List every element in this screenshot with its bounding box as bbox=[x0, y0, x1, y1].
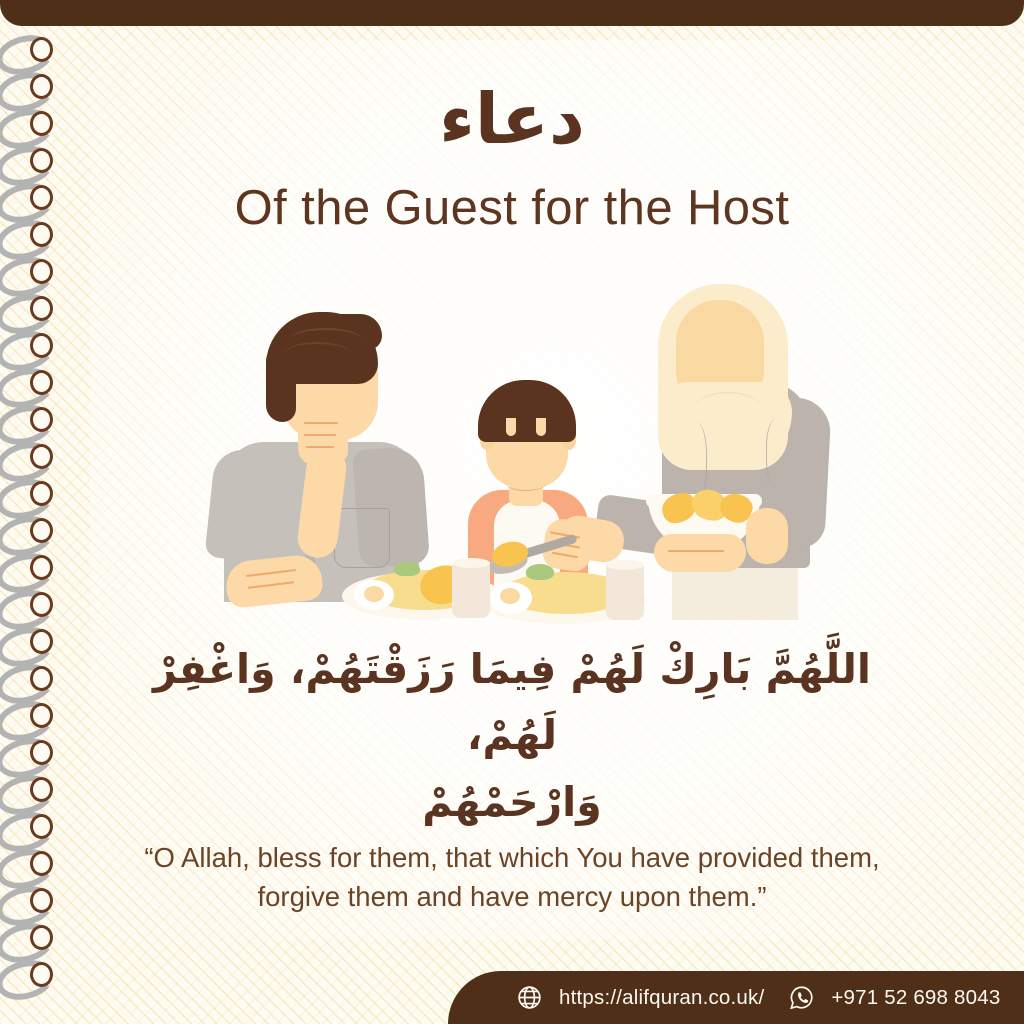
spiral-ring-hole bbox=[30, 814, 53, 839]
plate-right-garnish bbox=[526, 564, 554, 580]
spiral-ring-hole bbox=[30, 851, 53, 876]
website-url: https://alifquran.co.uk/ bbox=[559, 986, 764, 1010]
dua-arabic-line-1: اللَّهُمَّ بَارِكْ لَهُمْ فِيمَا رَزَقْت… bbox=[120, 636, 904, 769]
page-subtitle: Of the Guest for the Host bbox=[0, 180, 1024, 236]
spiral-ring-hole bbox=[30, 888, 53, 913]
spiral-ring bbox=[0, 922, 54, 952]
spiral-ring bbox=[0, 515, 54, 545]
poster-canvas: دعاء Of the Guest for the Host bbox=[0, 0, 1024, 1024]
spiral-ring-hole bbox=[30, 37, 53, 62]
dua-arabic-text: اللَّهُمَّ بَارِكْ لَهُمْ فِيمَا رَزَقْت… bbox=[120, 636, 904, 835]
globe-icon bbox=[516, 984, 543, 1011]
boy-hair-bang-notch bbox=[506, 418, 516, 436]
dua-arabic-line-2: وَارْحَمْهُمْ bbox=[120, 769, 904, 835]
spiral-ring bbox=[0, 552, 54, 582]
spiral-ring-hole bbox=[30, 740, 53, 765]
spiral-ring-hole bbox=[30, 296, 53, 321]
boy-chin-line bbox=[506, 476, 546, 491]
spiral-ring-hole bbox=[30, 407, 53, 432]
spiral-ring-hole bbox=[30, 925, 53, 950]
spiral-ring bbox=[0, 478, 54, 508]
boy-hair-bang-notch-2 bbox=[536, 418, 546, 436]
glass-left-top bbox=[452, 558, 490, 568]
dua-translation: “O Allah, bless for them, that which You… bbox=[110, 838, 914, 916]
woman-hand-under-bowl bbox=[654, 534, 746, 572]
spiral-ring bbox=[0, 774, 54, 804]
spiral-ring bbox=[0, 885, 54, 915]
contact-footer-bar: https://alifquran.co.uk/ +971 52 698 804… bbox=[448, 971, 1024, 1024]
plate-left-garnish bbox=[394, 562, 420, 576]
spiral-ring-hole bbox=[30, 259, 53, 284]
woman-hijab-fold-2 bbox=[692, 392, 764, 433]
top-brown-bar bbox=[0, 0, 1024, 26]
spiral-ring-hole bbox=[30, 481, 53, 506]
spiral-ring bbox=[0, 404, 54, 434]
spiral-ring bbox=[0, 811, 54, 841]
glass-right bbox=[606, 562, 644, 620]
spiral-ring-hole bbox=[30, 666, 53, 691]
spiral-ring-hole bbox=[30, 555, 53, 580]
spiral-ring-hole bbox=[30, 777, 53, 802]
spiral-ring-hole bbox=[30, 370, 53, 395]
spiral-ring bbox=[0, 256, 54, 286]
spiral-ring-hole bbox=[30, 703, 53, 728]
phone-number: +971 52 698 8043 bbox=[831, 986, 1000, 1010]
spiral-ring-hole bbox=[30, 444, 53, 469]
spiral-ring bbox=[0, 737, 54, 767]
phone-contact[interactable]: +971 52 698 8043 bbox=[788, 984, 1000, 1011]
spiral-ring bbox=[0, 626, 54, 656]
spiral-ring bbox=[0, 589, 54, 619]
man-finger-line-1 bbox=[304, 422, 338, 424]
man-shoulder-left bbox=[204, 447, 277, 563]
spiral-ring bbox=[0, 34, 54, 64]
spiral-ring bbox=[0, 959, 54, 989]
woman-hand-side-bowl bbox=[746, 508, 788, 564]
whatsapp-icon bbox=[788, 984, 815, 1011]
spiral-ring bbox=[0, 848, 54, 878]
spiral-ring-hole bbox=[30, 962, 53, 987]
man-shirt-pocket bbox=[334, 508, 390, 568]
man-finger-line-2 bbox=[304, 434, 336, 436]
website-contact[interactable]: https://alifquran.co.uk/ bbox=[516, 984, 764, 1011]
glass-left bbox=[452, 560, 490, 618]
man-finger-line-3 bbox=[306, 446, 334, 448]
spiral-ring-hole bbox=[30, 333, 53, 358]
spiral-ring bbox=[0, 441, 54, 471]
spiral-ring bbox=[0, 293, 54, 323]
spiral-ring bbox=[0, 330, 54, 360]
woman-bowl-hand-line bbox=[668, 550, 724, 552]
plate-right-egg-yolk bbox=[500, 588, 520, 604]
spiral-ring bbox=[0, 367, 54, 397]
arabic-title: دعاء bbox=[0, 84, 1024, 154]
plate-left-egg-yolk bbox=[364, 586, 384, 602]
spiral-ring bbox=[0, 663, 54, 693]
woman-hijab-fold-1 bbox=[684, 312, 741, 370]
spiral-ring-hole bbox=[30, 592, 53, 617]
spiral-ring-hole bbox=[30, 518, 53, 543]
woman-dress-fold-2 bbox=[766, 418, 793, 488]
spiral-ring-hole bbox=[30, 629, 53, 654]
spiral-ring bbox=[0, 700, 54, 730]
glass-right-top bbox=[606, 560, 644, 570]
boy-hair bbox=[478, 380, 576, 442]
man-hair-strand-2 bbox=[284, 342, 350, 366]
family-dining-illustration bbox=[206, 272, 854, 620]
